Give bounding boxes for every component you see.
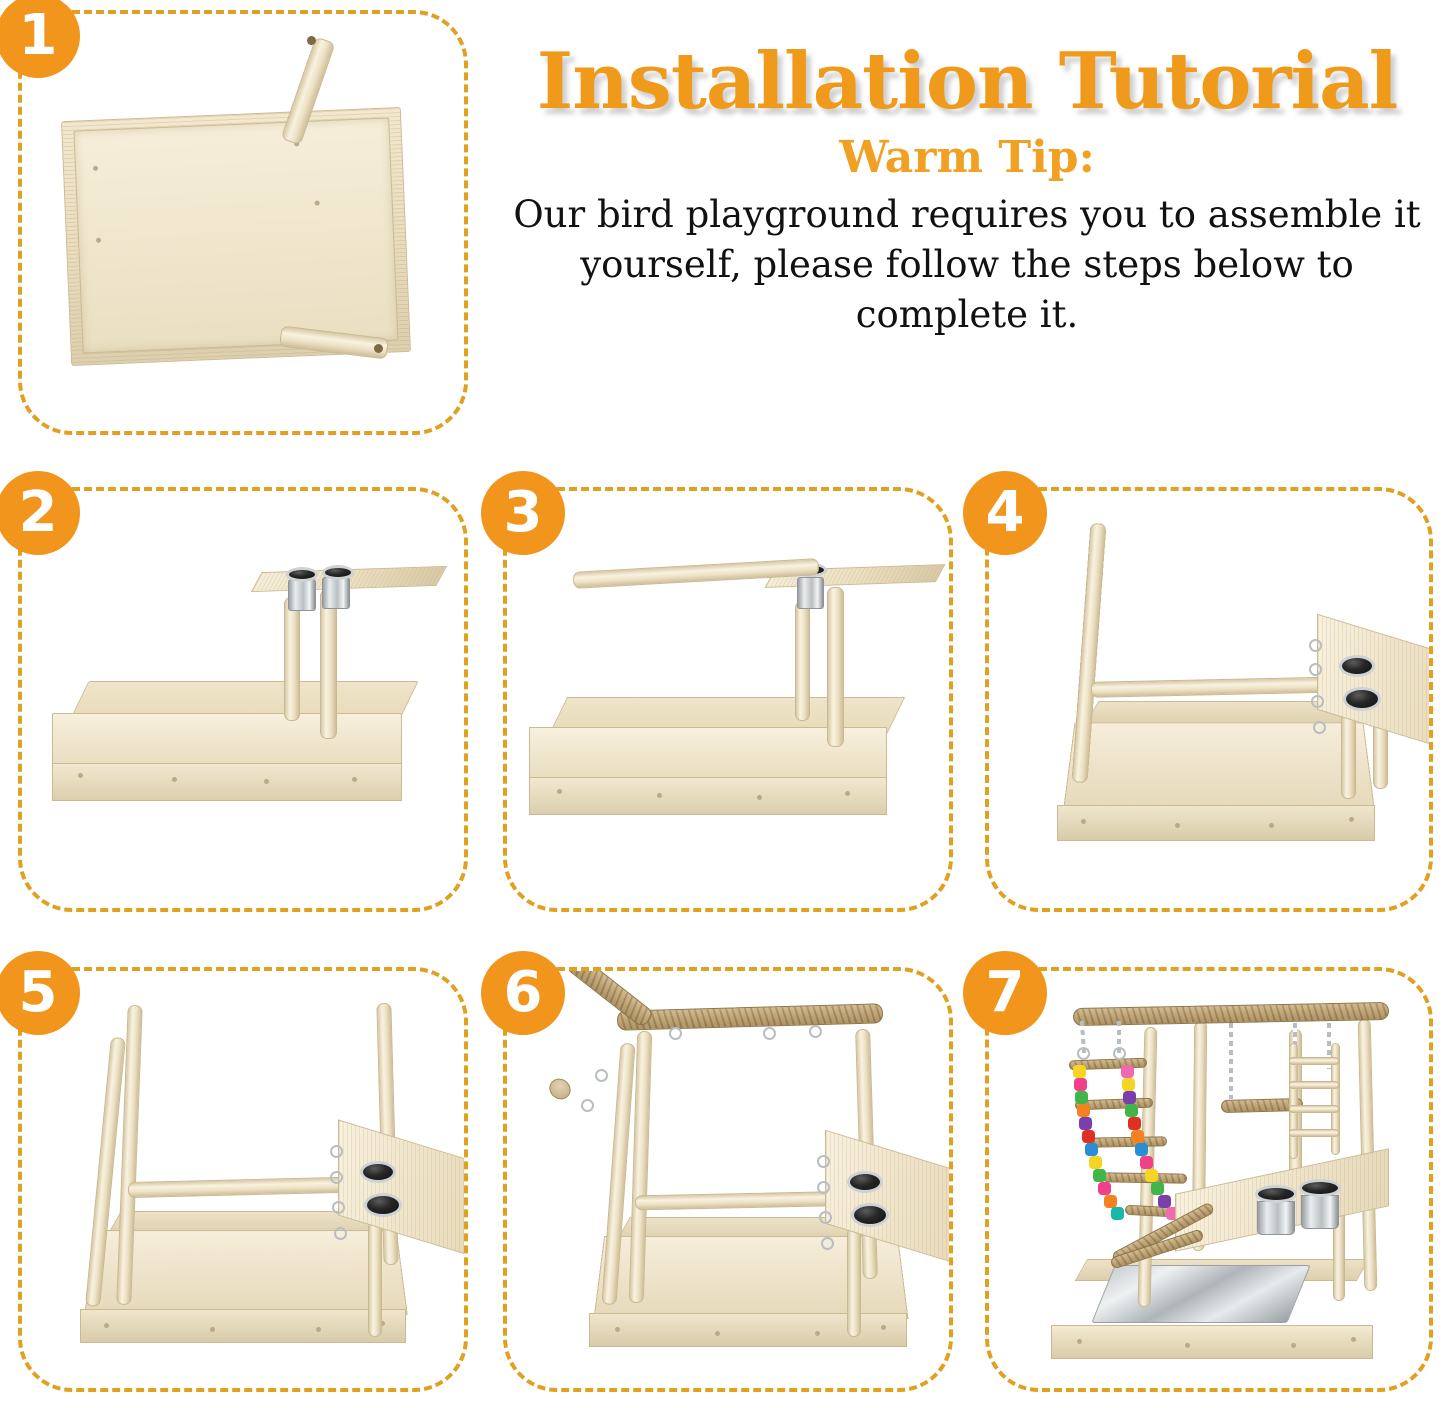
step-badge-2: 2 [0,471,80,555]
step-panel-2: 2 [18,487,468,912]
step-badge-6: 6 [481,951,565,1035]
header-block: Installation Tutorial Warm Tip: Our bird… [492,40,1442,370]
step-4-illustration [989,491,1429,908]
step-badge-5: 5 [0,951,80,1035]
step-panel-1: 1 [18,10,468,435]
step-5-illustration [22,971,464,1388]
step-6-illustration [507,971,949,1388]
step-2-illustration [22,491,464,908]
step-panel-6: 6 [503,967,953,1392]
step-badge-4: 4 [963,471,1047,555]
step-3-illustration [507,491,949,908]
warm-tip-body: Our bird playground requires you to asse… [492,190,1442,340]
warm-tip-heading: Warm Tip: [492,130,1442,186]
step-panel-7: 7 [985,967,1433,1392]
step-1-illustration [22,14,464,431]
page-title: Installation Tutorial [492,40,1442,124]
step-badge-7: 7 [963,951,1047,1035]
step-badge-3: 3 [481,471,565,555]
step-panel-4: 4 [985,487,1433,912]
step-7-illustration [989,971,1429,1388]
step-panel-5: 5 [18,967,468,1392]
tutorial-page: Installation Tutorial Warm Tip: Our bird… [0,0,1445,1408]
step-panel-3: 3 [503,487,953,912]
